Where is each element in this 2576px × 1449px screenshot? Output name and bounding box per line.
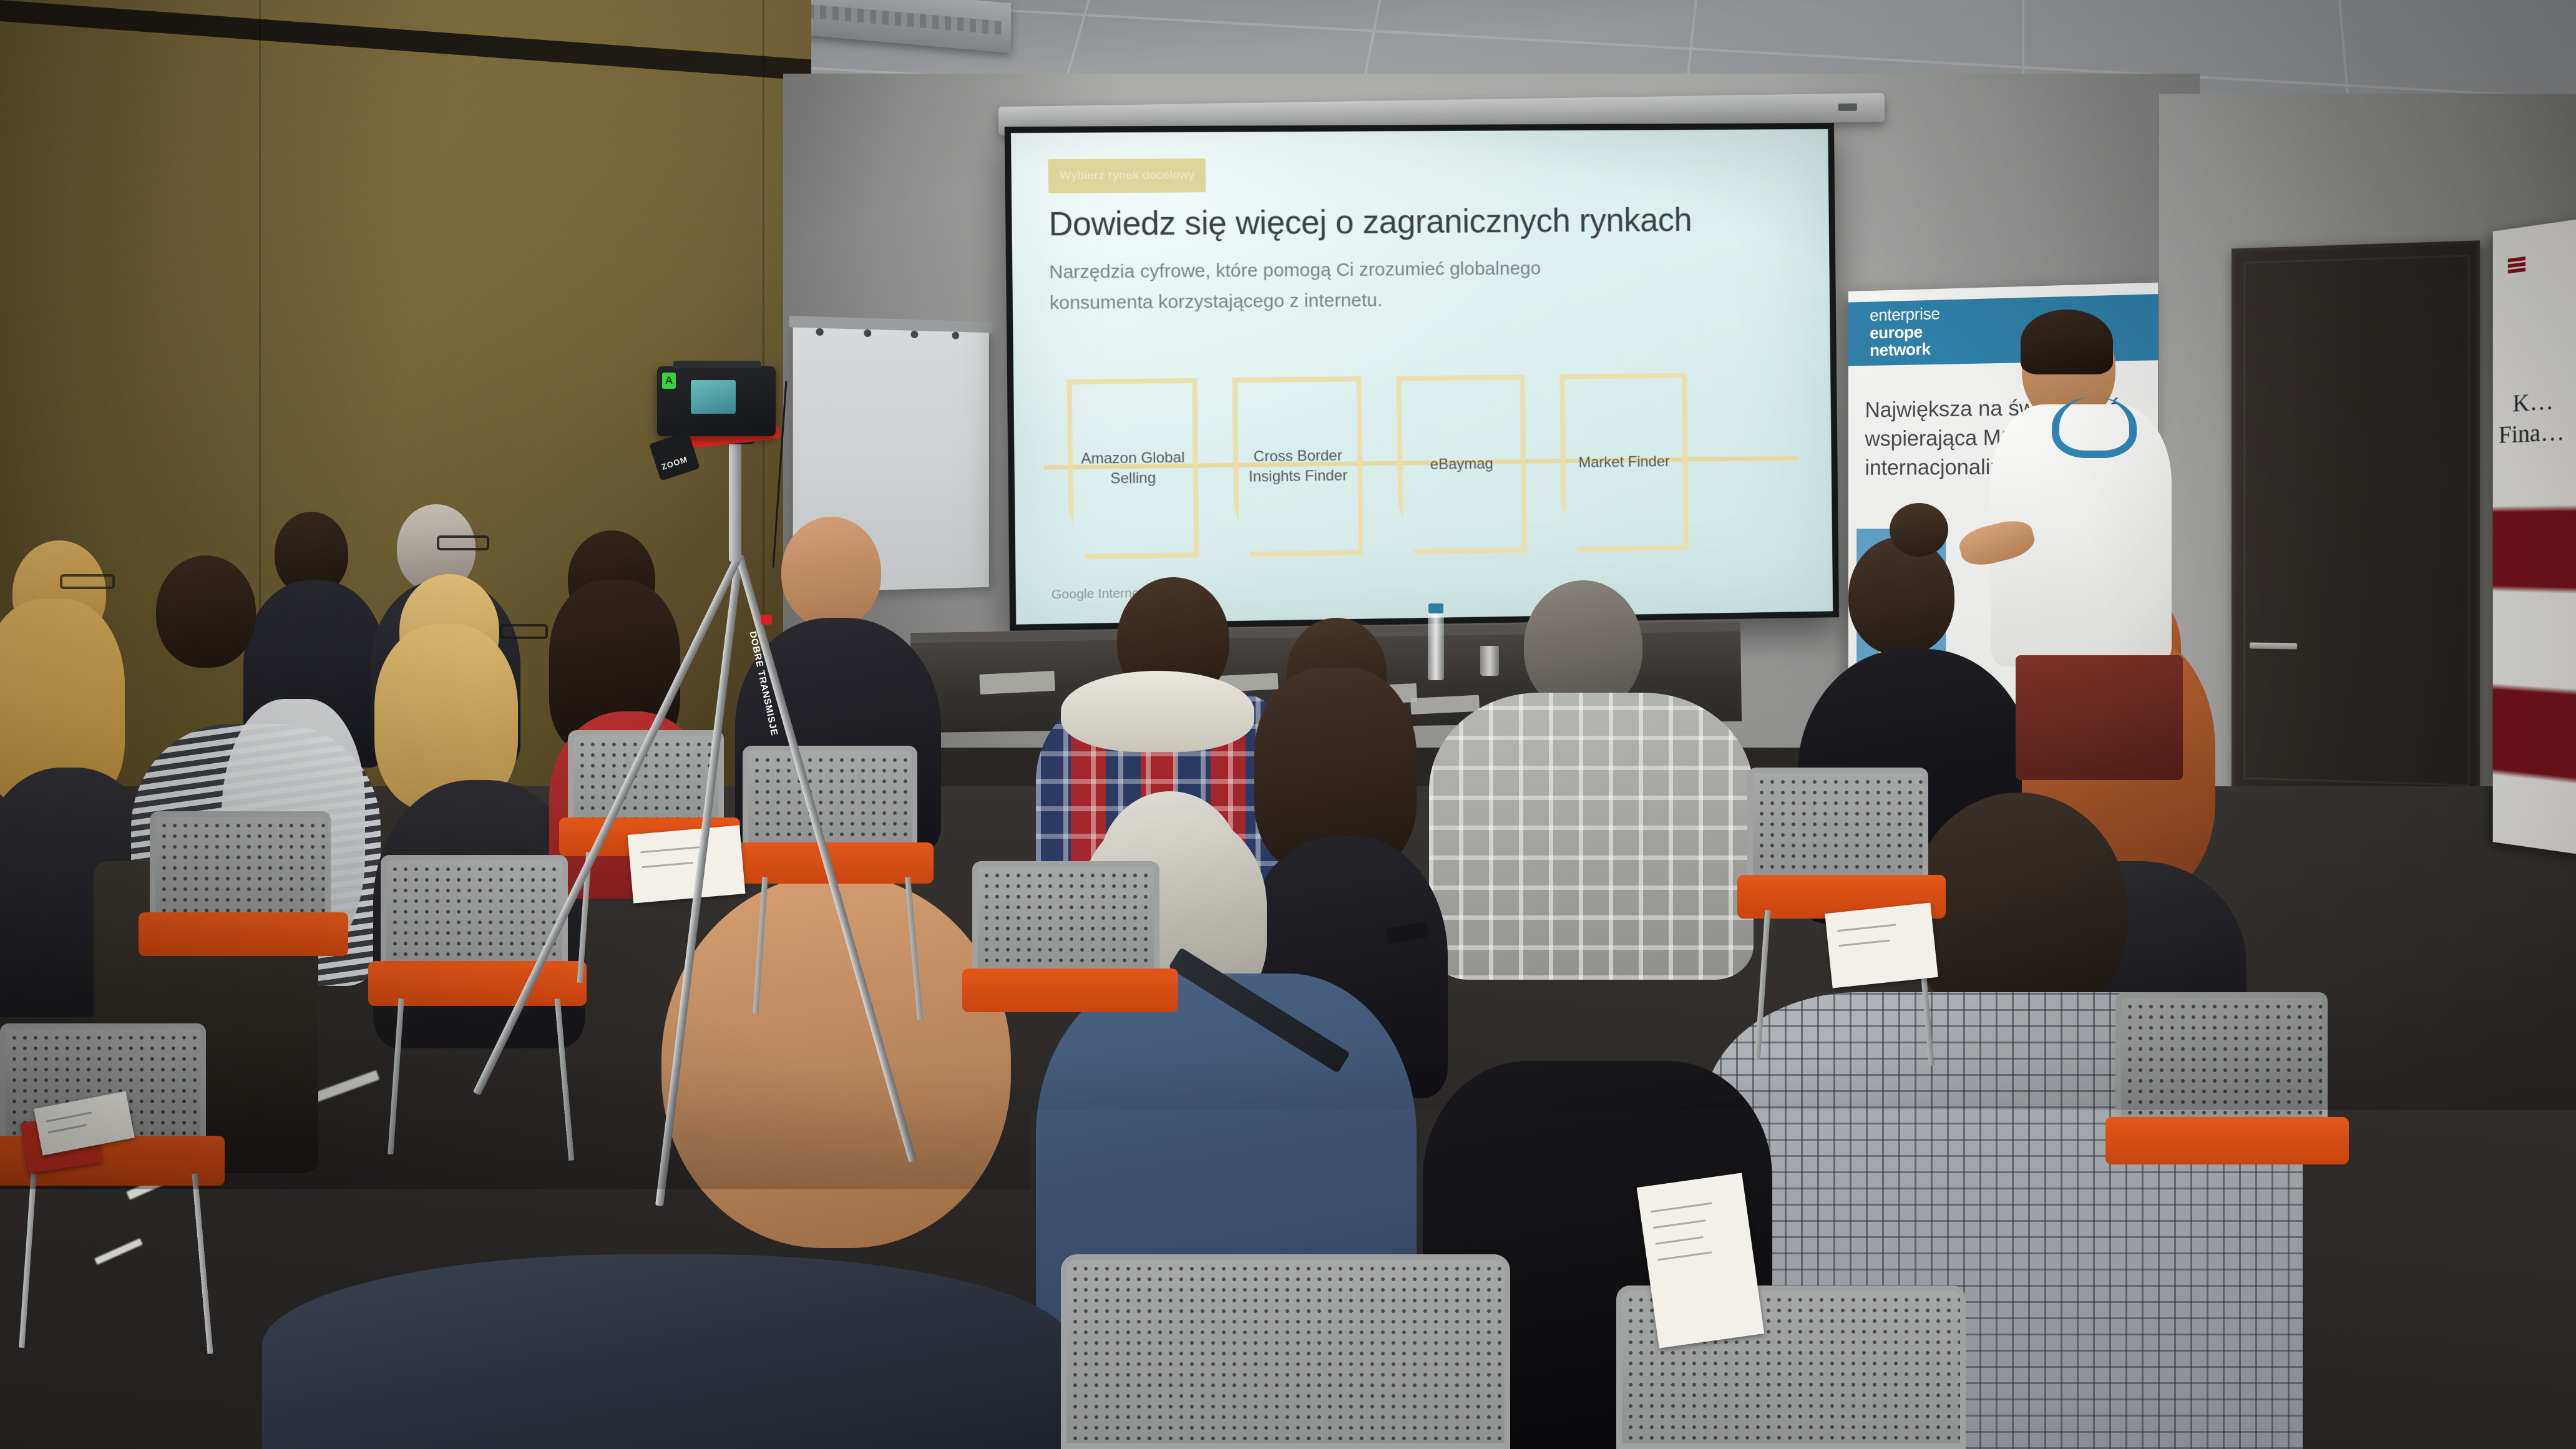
shirt-hood: [1061, 671, 1254, 752]
presenter-trousers: [2016, 655, 2183, 780]
screen-roller-button[interactable]: [1838, 104, 1857, 111]
slide-section-badge: Wybierz rynek docelowy: [1048, 159, 1206, 193]
projection-screen: Wybierz rynek docelowy Dowiedz się więce…: [1005, 123, 1839, 631]
handout-sheet: [1637, 1173, 1765, 1348]
eyeglasses-icon: [437, 535, 489, 550]
hair-bun: [1890, 503, 1948, 557]
een-logo-line-3: network: [1870, 340, 1939, 359]
flow-box-market-finder: Market Finder: [1559, 373, 1689, 552]
flow-box-label: Amazon Global Selling: [1073, 447, 1193, 489]
door-handle-icon[interactable]: [2250, 642, 2297, 649]
flipchart-clip: [864, 329, 871, 337]
foreground-man-shoulders: [262, 1254, 1073, 1449]
table-paper: [979, 671, 1055, 695]
slide-subtitle: Narzędzia cyfrowe, które pomogą Ci zrozu…: [1049, 253, 1613, 319]
right-roll-up-banner: K… Fina…: [2493, 218, 2576, 856]
eyeglasses-icon: [60, 574, 115, 589]
video-camera[interactable]: A: [657, 366, 776, 436]
hair: [2021, 310, 2113, 374]
zoom-recorder-label: ZOOM: [660, 454, 689, 472]
presentation-slide: Wybierz rynek docelowy Dowiedz się więce…: [1011, 129, 1833, 625]
een-logo: enterprise europe network: [1870, 305, 1939, 359]
een-logo-line-1: enterprise: [1870, 305, 1939, 324]
lanyard: [2052, 397, 2137, 458]
flow-box-label: Cross Border Insights Finder: [1238, 446, 1358, 487]
drinking-glass: [1480, 646, 1499, 676]
flow-box-label: Market Finder: [1572, 452, 1676, 473]
handout-sheet: [1825, 902, 1938, 988]
flow-box-amazon-global-selling: Amazon Global Selling: [1067, 378, 1199, 560]
eyeglasses-icon: [499, 624, 548, 639]
room-door[interactable]: [2232, 240, 2480, 798]
camera-top-plate: [673, 361, 761, 368]
flipchart-clip: [911, 331, 919, 338]
camera-lcd-screen: [691, 380, 736, 414]
tripod-brand-dot: [761, 615, 772, 625]
water-bottle: [1428, 608, 1444, 680]
slide-badge-label: Wybierz rynek docelowy: [1060, 168, 1195, 183]
slide-title: Dowiedz się więcej o zagranicznych rynka…: [1048, 202, 1767, 242]
flow-box-label: eBaymag: [1424, 454, 1500, 475]
banner-logo-icon: [2508, 256, 2525, 275]
grey-plaid-shirt: [1429, 693, 1754, 980]
slide-flow-diagram: Amazon Global Selling Cross Border Insig…: [1043, 372, 1799, 562]
bottle-cap: [1428, 603, 1443, 613]
right-banner-line-2: Fina…: [2499, 417, 2565, 449]
conference-room-photo: Wybierz rynek docelowy Dowiedz się więce…: [0, 0, 2576, 1449]
right-banner-line-1: K…: [2512, 386, 2554, 417]
camera-mode-badge: A: [662, 373, 676, 389]
een-logo-line-2: europe: [1870, 323, 1939, 342]
flow-box-cross-border-insights-finder: Cross Border Insights Finder: [1232, 376, 1364, 557]
tripod-column: [729, 437, 741, 562]
handout-sheet: [628, 825, 746, 903]
flipchart-clip: [952, 332, 960, 339]
table-paper: [1410, 695, 1480, 715]
flipchart-clip: [816, 328, 824, 336]
flow-box-ebaymag: eBaymag: [1397, 374, 1526, 554]
